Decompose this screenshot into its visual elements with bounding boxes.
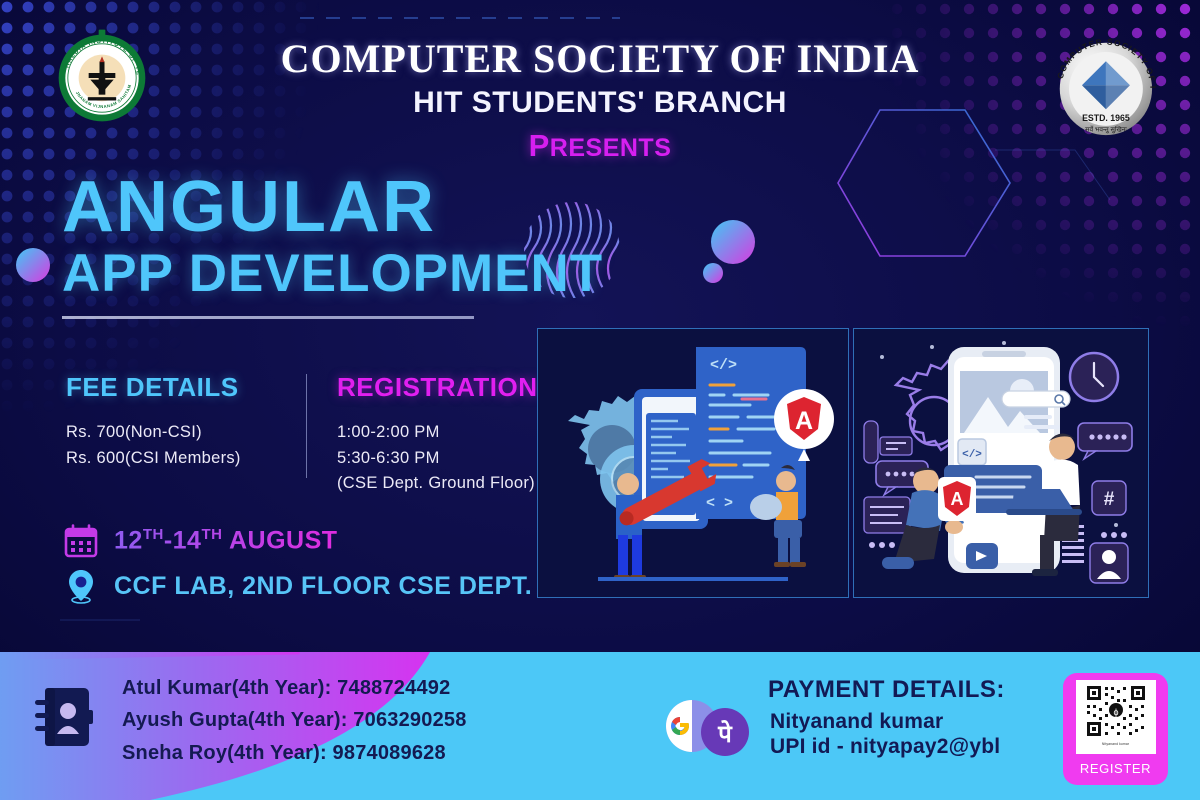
illustration-mobile-app-team: </> bbox=[853, 328, 1149, 598]
svg-text:A: A bbox=[951, 489, 964, 509]
calendar-icon bbox=[64, 524, 98, 558]
branch-title: HIT STUDENTS' BRANCH bbox=[230, 86, 970, 120]
angular-logo-small: A bbox=[938, 477, 976, 521]
search-bar bbox=[1002, 391, 1070, 407]
poster-header: COMPUTER SOCIETY OF INDIA HIT STUDENTS' … bbox=[230, 38, 970, 164]
fee-item: Rs. 700(Non-CSI) bbox=[66, 420, 306, 446]
qr-card: ϕ Nityanand kumar bbox=[1076, 680, 1156, 754]
payment-details-heading: PAYMENT DETAILS: bbox=[768, 676, 1005, 704]
computer-society-of-india-logo: COMPUTER SOCIETY OF INDIA ESTD. 1965 सर्… bbox=[1035, 28, 1175, 148]
location-pin-icon bbox=[64, 568, 98, 604]
event-date-text: 12TH-14TH AUGUST bbox=[114, 526, 338, 555]
csi-estd-text: ESTD. 1965 bbox=[1082, 113, 1130, 123]
column-divider bbox=[306, 374, 307, 478]
event-poster: HALDIA INSTITUTE OF TECHNOLOGY JNANAM VI… bbox=[0, 0, 1200, 800]
payment-upi-id: UPI id - nityapay2@ybl bbox=[770, 735, 1000, 759]
svg-text:</>: </> bbox=[962, 449, 982, 461]
register-label: REGISTER bbox=[1080, 761, 1151, 776]
event-venue-text: CCF LAB, 2ND FLOOR CSE DEPT. bbox=[114, 572, 532, 601]
svg-text:A: A bbox=[795, 407, 813, 435]
svg-text:#: # bbox=[1104, 489, 1115, 510]
haldia-institute-of-technology-logo: HALDIA INSTITUTE OF TECHNOLOGY JNANAM VI… bbox=[42, 28, 162, 128]
fee-details-list: Rs. 700(Non-CSI) Rs. 600(CSI Members) bbox=[66, 420, 306, 471]
event-venue-row: CCF LAB, 2ND FLOOR CSE DEPT. bbox=[64, 568, 532, 604]
gradient-sphere-left bbox=[16, 248, 50, 282]
contact-list: Atul Kumar(4th Year): 7488724492 Ayush G… bbox=[122, 672, 467, 769]
title-underline bbox=[62, 316, 474, 319]
contact-item: Sneha Roy(4th Year): 9874089628 bbox=[122, 737, 467, 769]
svg-text:पे: पे bbox=[717, 720, 733, 748]
clock-icon bbox=[1070, 353, 1118, 401]
presents-label: PRESENTS bbox=[230, 128, 970, 164]
code-tag-open: </> bbox=[710, 357, 737, 374]
hashtag-icon: # bbox=[1092, 481, 1126, 515]
svg-text:ϕ: ϕ bbox=[1113, 707, 1118, 717]
profile-icon bbox=[1090, 543, 1128, 583]
info-columns: FEE DETAILS Rs. 700(Non-CSI) Rs. 600(CSI… bbox=[66, 372, 597, 497]
csi-motto-text: सर्वे भवन्तु सुखिनः bbox=[1085, 125, 1127, 133]
organization-title: COMPUTER SOCIETY OF INDIA bbox=[230, 38, 970, 80]
qr-code-icon[interactable]: ϕ bbox=[1083, 683, 1149, 741]
illustration-developer-tools: </> < > A bbox=[537, 328, 849, 598]
qr-caption: Nityanand kumar bbox=[1102, 742, 1129, 746]
contact-item: Atul Kumar(4th Year): 7488724492 bbox=[122, 672, 467, 704]
fee-details-column: FEE DETAILS Rs. 700(Non-CSI) Rs. 600(CSI… bbox=[66, 372, 306, 497]
event-title: ANGULAR APP DEVELOPMENT bbox=[62, 172, 603, 319]
register-qr-box[interactable]: ϕ Nityanand kumar REGISTER bbox=[1063, 673, 1168, 785]
phonepe-icon: पे bbox=[701, 708, 749, 756]
gradient-sphere-large bbox=[711, 220, 755, 264]
fee-details-heading: FEE DETAILS bbox=[66, 372, 306, 403]
payment-app-icons: Pay पे bbox=[662, 700, 750, 758]
event-title-line-1: ANGULAR bbox=[62, 172, 603, 243]
contact-book-icon bbox=[35, 684, 97, 750]
code-tag-close: < > bbox=[706, 495, 733, 512]
fee-item: Rs. 600(CSI Members) bbox=[66, 446, 306, 472]
event-date-row: 12TH-14TH AUGUST bbox=[64, 524, 338, 558]
payment-account-name: Nityanand kumar bbox=[770, 710, 943, 734]
contact-item: Ayush Gupta(4th Year): 7063290258 bbox=[122, 704, 467, 736]
gradient-sphere-small bbox=[703, 263, 723, 283]
event-title-line-2: APP DEVELOPMENT bbox=[62, 247, 603, 300]
